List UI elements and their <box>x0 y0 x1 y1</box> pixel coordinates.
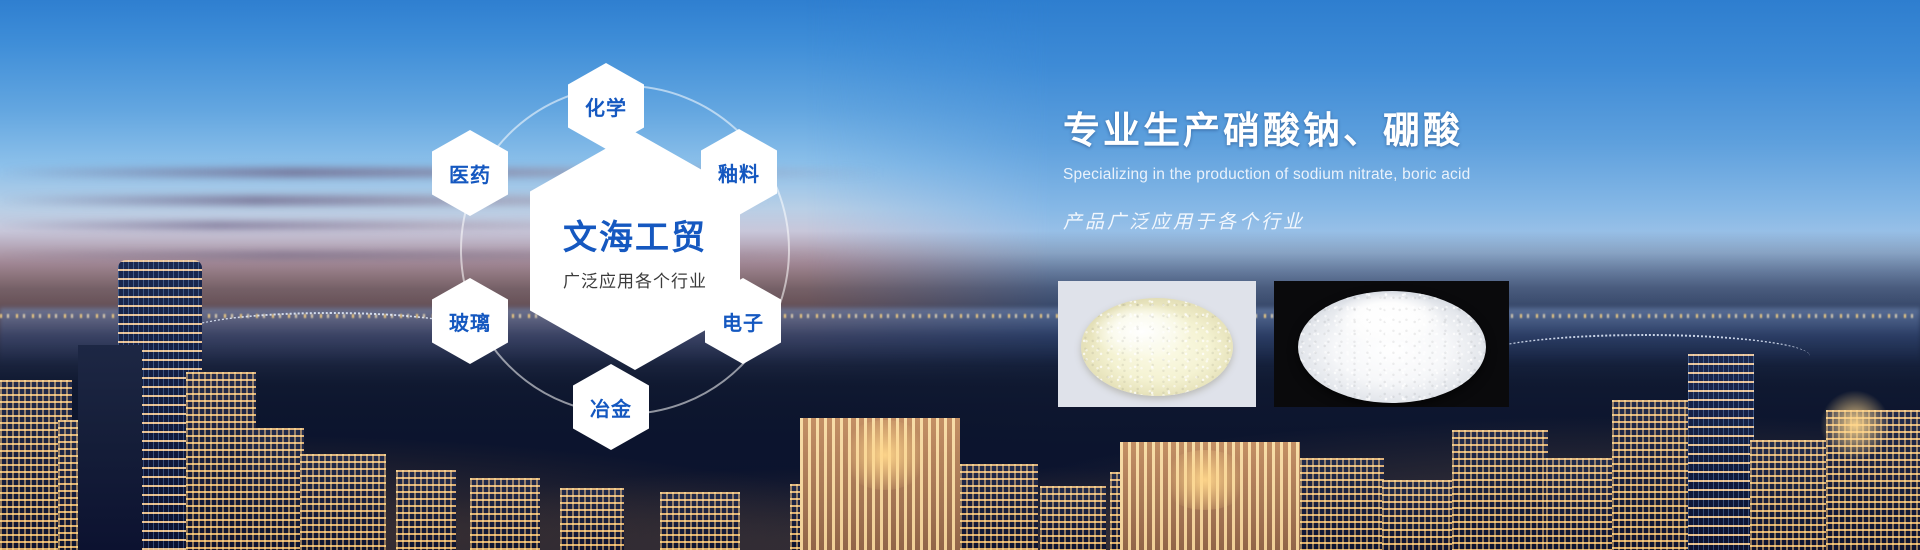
city-light-glow <box>1820 390 1890 460</box>
city-light-glow <box>1160 450 1250 510</box>
building <box>1546 458 1620 550</box>
powder-pile <box>1298 291 1486 403</box>
building <box>1750 440 1830 550</box>
building <box>1612 400 1700 550</box>
powder-pile <box>1081 298 1233 396</box>
tagline: 产品广泛应用于各个行业 <box>1063 207 1763 234</box>
hex-node-label: 玻璃 <box>449 307 491 336</box>
industry-hexagon-diagram: 文海工贸 广泛应用各个行业 化学 釉料 电子 冶金 玻璃 医药 <box>420 20 1020 540</box>
building <box>1040 486 1106 550</box>
promo-banner: 文海工贸 广泛应用各个行业 化学 釉料 电子 冶金 玻璃 医药 专业生产硝酸钠、… <box>0 0 1920 550</box>
hex-node-label: 医药 <box>449 159 491 188</box>
company-name: 文海工贸 <box>563 210 707 259</box>
hex-node-label: 釉料 <box>718 158 760 187</box>
hex-node-label: 电子 <box>722 307 764 336</box>
building <box>1382 480 1452 550</box>
product-photo-boric-acid <box>1274 281 1509 407</box>
product-photo-sodium-nitrate <box>1058 281 1256 407</box>
headline: 专业生产硝酸钠、硼酸 <box>1063 100 1763 154</box>
marketing-copy: 专业生产硝酸钠、硼酸 Specializing in the productio… <box>1063 100 1763 234</box>
building <box>1300 458 1384 550</box>
subheadline-english: Specializing in the production of sodium… <box>1063 166 1763 184</box>
powder-grain-texture <box>1081 298 1233 396</box>
powder-grain-texture <box>1298 291 1486 403</box>
hex-node-label: 冶金 <box>590 393 632 422</box>
company-tagline: 广泛应用各个行业 <box>563 267 707 292</box>
building <box>1688 354 1754 550</box>
hex-node-label: 化学 <box>585 92 627 121</box>
building <box>246 428 304 550</box>
building <box>78 345 142 550</box>
building <box>300 454 386 550</box>
building <box>1452 430 1548 550</box>
